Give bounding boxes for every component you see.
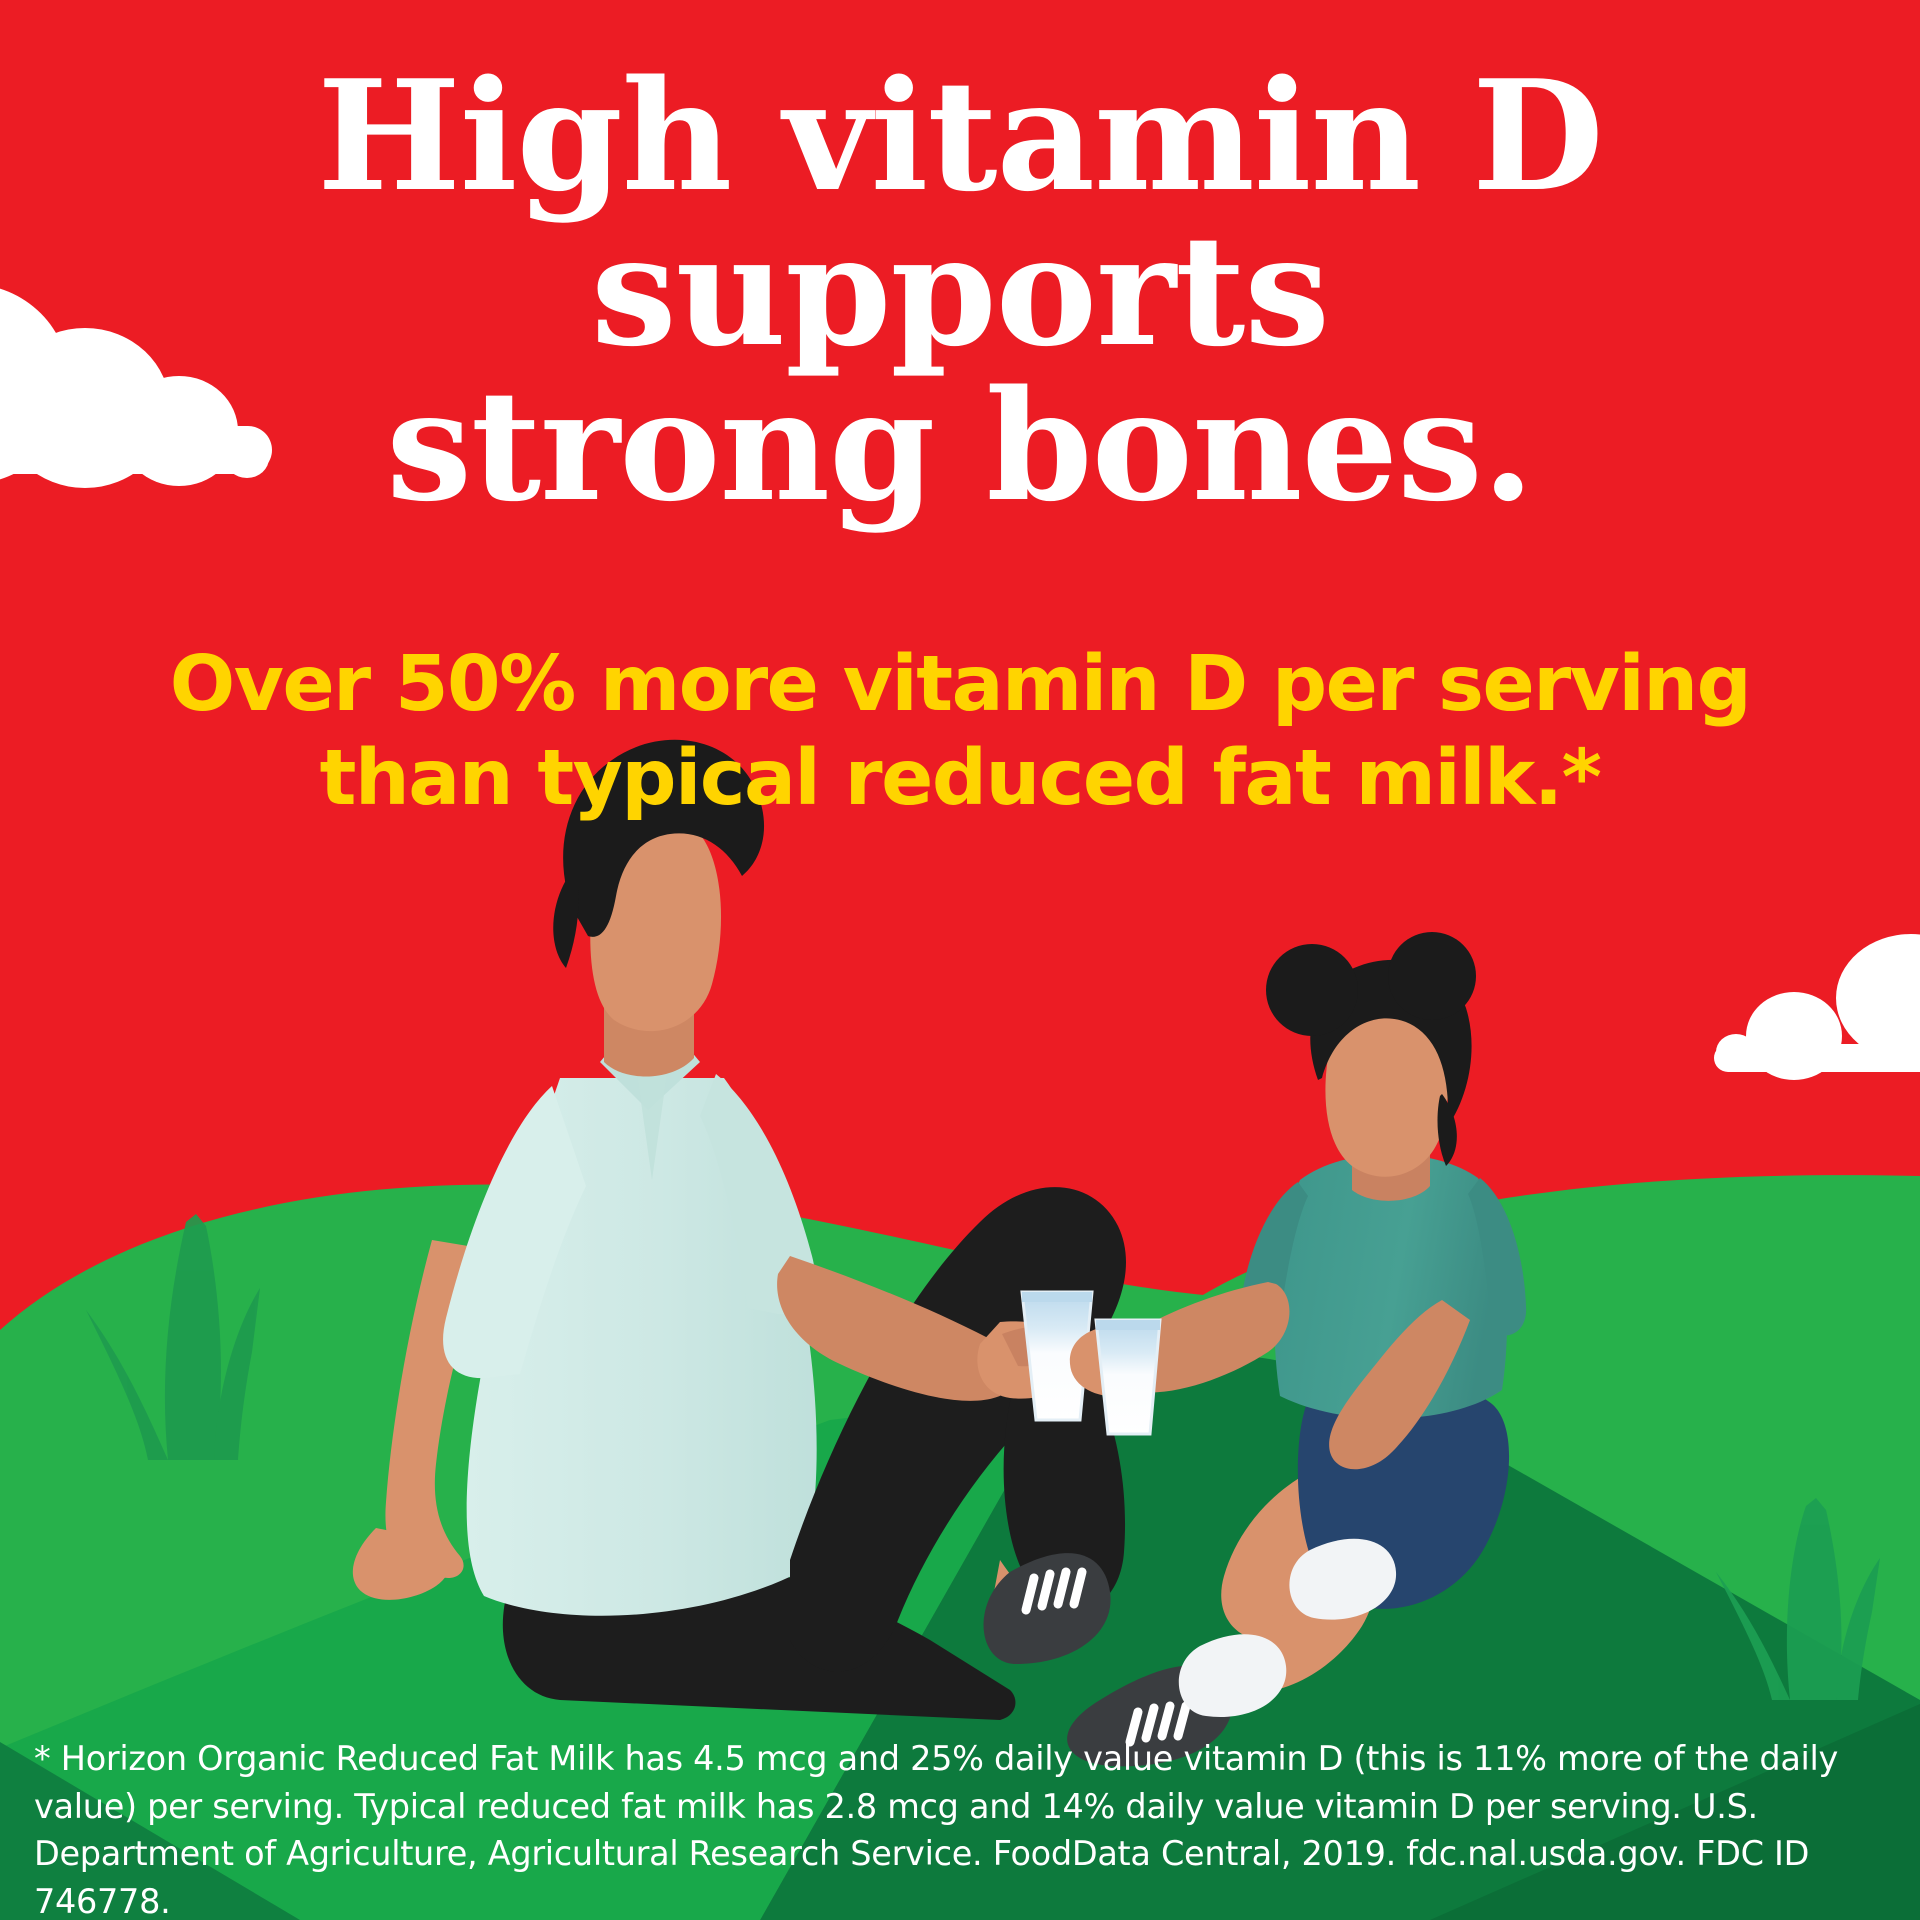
girl-bun-left xyxy=(1266,944,1358,1036)
headline-line-2: supports xyxy=(60,213,1860,368)
headline-line-1: High vitamin D xyxy=(60,58,1860,213)
subheadline-line-1: Over 50% more vitamin D per serving xyxy=(28,638,1892,732)
milk-glass-right xyxy=(1096,1320,1160,1434)
glass-left-rim xyxy=(1022,1292,1092,1302)
man-sideburn xyxy=(553,880,578,968)
headline: High vitamin D supports strong bones. xyxy=(0,58,1920,523)
headline-line-3: strong bones. xyxy=(60,368,1860,523)
subheadline-line-2: than typical reduced fat milk.* xyxy=(28,732,1892,826)
footnote-disclaimer: * Horizon Organic Reduced Fat Milk has 4… xyxy=(34,1735,1892,1920)
girl-bun-right xyxy=(1388,932,1476,1020)
glass-right-body xyxy=(1096,1320,1160,1434)
glass-right-rim xyxy=(1096,1320,1160,1330)
ad-canvas: High vitamin D supports strong bones. Ov… xyxy=(0,0,1920,1920)
subheadline: Over 50% more vitamin D per serving than… xyxy=(0,638,1920,826)
